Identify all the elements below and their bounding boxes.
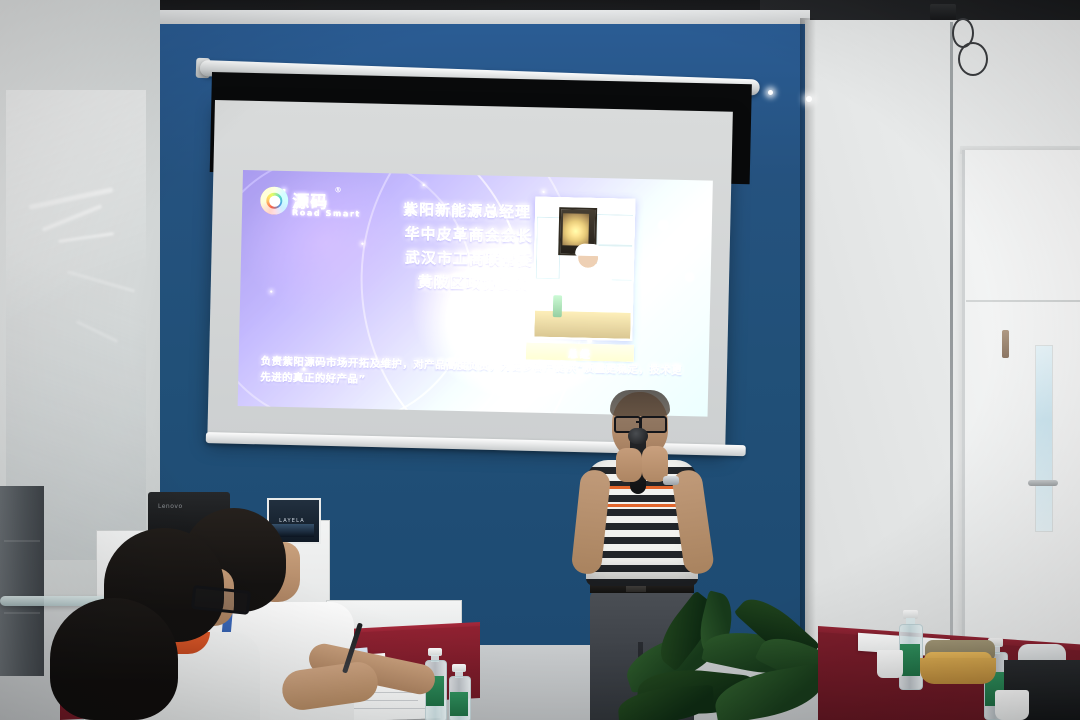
slide-sparkle: [662, 224, 665, 227]
photo-person-cap: [575, 244, 602, 257]
photo-wall-frame-art: [562, 213, 589, 246]
logo-registered-icon: ®: [334, 186, 341, 194]
presenter-left-hand: [616, 448, 642, 482]
back-wall-top-trim: [150, 10, 810, 24]
photo-bottle: [553, 295, 562, 317]
attendee-1-head: [50, 598, 178, 720]
door[interactable]: [962, 150, 1080, 650]
front-left-attendee: [28, 598, 220, 720]
microphone-head-icon: [628, 428, 648, 444]
presenter-hair: [610, 390, 670, 416]
bottle-label: [450, 692, 468, 716]
door-panel-line: [966, 300, 1080, 302]
ceiling-downlight-1: [806, 96, 812, 102]
ceiling-speaker: [930, 4, 956, 20]
corner-shadow: [800, 18, 816, 658]
door-handle[interactable]: [1028, 480, 1058, 486]
logo-english-text: Road Smart: [292, 208, 361, 219]
right-wall-seam: [950, 22, 953, 642]
projected-slide: 源码 ® Road Smart 紫阳新能源总经理 华中皮革商会会长 武汉市工商联…: [238, 170, 713, 417]
slide-sparkle: [689, 276, 691, 278]
potted-plant: [618, 596, 848, 720]
slide-sparkle: [423, 184, 425, 186]
slide-sparkle: [270, 291, 272, 293]
presenter-glasses-bridge: [636, 421, 642, 423]
plant-leaf: [711, 663, 827, 720]
slide-portrait-photo: [532, 197, 635, 341]
door-glass-panel: [1035, 345, 1053, 532]
photo-desk: [534, 311, 631, 339]
door-lock[interactable]: [1002, 330, 1009, 358]
presentation-room-photo: 源码 ® Road Smart 紫阳新能源总经理 华中皮革商会会长 武汉市工商联…: [0, 0, 1080, 720]
ceiling-downlight-2: [768, 90, 773, 95]
ceiling-wire-2: [958, 42, 988, 76]
presenter-wristwatch: [663, 476, 679, 485]
photo-person-body: [563, 263, 612, 316]
bottle-label: [900, 644, 920, 676]
paper-cup[interactable]: [877, 650, 903, 678]
photo-cabinet-left: [536, 217, 561, 280]
cabinet-line-1: [4, 540, 40, 542]
snack-basket: [920, 658, 996, 684]
paper-cup-foreground[interactable]: [995, 690, 1029, 720]
slide-sparkle: [543, 191, 545, 193]
